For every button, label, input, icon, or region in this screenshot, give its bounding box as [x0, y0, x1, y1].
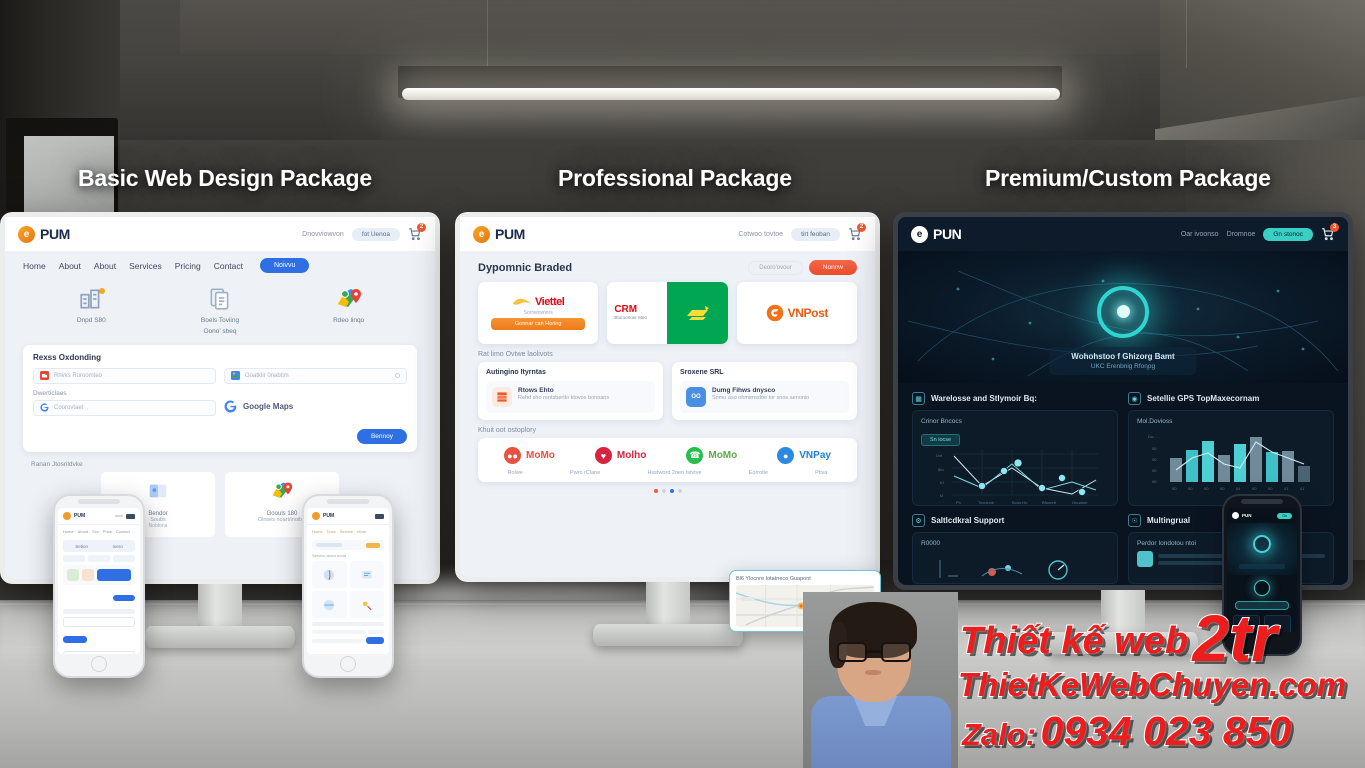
- form-title: Rexss Oxdonding: [33, 353, 407, 362]
- section-title: Dypomnic Braded: [478, 262, 572, 274]
- phone-hero-core-icon: [1253, 535, 1271, 553]
- payment-momo-2[interactable]: ♥ Molho: [595, 447, 646, 464]
- phone-button[interactable]: [63, 636, 87, 643]
- panel-title-premium: Premium/Custom Package: [985, 165, 1271, 192]
- nav-item-home[interactable]: Home: [23, 261, 46, 271]
- mini-card-1[interactable]: Autingino Ityrntas Rtows Ehto Rehd sho r…: [478, 362, 663, 420]
- hero-caption: Wohohstoo f Ghizorg Bamt UKC Erenbnig Rf…: [1049, 347, 1196, 375]
- payment-name: MoMo: [708, 450, 737, 461]
- phone-nav-item[interactable]: More: [357, 529, 366, 534]
- brand-name: CRM: [614, 304, 665, 315]
- carousel-dot-4[interactable]: [678, 489, 682, 493]
- support-graphic: [921, 550, 1109, 582]
- phone-primary-tile[interactable]: [97, 569, 131, 581]
- server-icon: [492, 387, 512, 407]
- promo-text-price-label: Thiết kế web: [960, 620, 1188, 663]
- google-maps-pin-icon: [311, 284, 387, 314]
- phone-tile[interactable]: [312, 591, 347, 618]
- phone-input[interactable]: [63, 651, 135, 654]
- section-header-row: Dypomnic Braded Deoro'ovour Nonnw: [460, 251, 875, 282]
- nav-cta-button[interactable]: Noivvu: [260, 258, 309, 273]
- payment-logo-row: ●● MoMo ♥ Molho ☎ MoMo ● VNPay: [484, 447, 851, 464]
- google-maps-label: Google Maps: [243, 402, 293, 411]
- brand-card-vnpost[interactable]: VNPost: [737, 282, 857, 344]
- order-form-card: Rexss Oxdonding Rhvks Ruroomteo Goatklir…: [23, 345, 417, 452]
- input-value: Rhvks Ruroomteo: [54, 373, 102, 379]
- feature-docs[interactable]: Boels Toviing Oono' sbeq: [182, 284, 258, 337]
- feature-title: Setellie GPS TopMaxecornam: [1147, 394, 1259, 403]
- phone-pill-button[interactable]: Gn: [1277, 513, 1292, 519]
- logo-text: PUM: [40, 226, 70, 242]
- hero-subline: UKC Erenbnig Rfonog: [1071, 363, 1174, 370]
- cart-icon[interactable]: 2: [848, 227, 862, 241]
- feature-support[interactable]: ⚙ Saltlcdkral Support R0000: [912, 514, 1118, 584]
- field-row-1: Rhvks Ruroomteo Goatklir 0nabtim: [33, 368, 407, 384]
- promo-line-2: ThietKeWebChuyen.com: [958, 666, 1346, 704]
- svg-text:00: 00: [1204, 486, 1209, 491]
- promo-text-zalo-label: Zalo:: [962, 717, 1036, 753]
- google-maps-row[interactable]: Google Maps: [224, 400, 407, 413]
- logo-mark-icon: [312, 512, 320, 520]
- mini-card-row: Autingino Ityrntas Rtows Ehto Rehd sho r…: [460, 362, 875, 420]
- brand-card-viettel[interactable]: Viettel Sornwovnors Gonnar can Horing: [478, 282, 598, 344]
- phone-chip[interactable]: [88, 555, 110, 562]
- person-mouth: [865, 670, 881, 675]
- feature-caption-2: Oono' sbeq: [182, 328, 258, 336]
- submit-button[interactable]: Bennoy: [357, 429, 407, 444]
- payment-strip: ●● MoMo ♥ Molho ☎ MoMo ● VNPay: [478, 438, 857, 482]
- radio-icon[interactable]: [395, 373, 400, 378]
- website-professional: e PUM Cotwoo tovtoe tirt feoban 2 Dypomn…: [460, 217, 875, 577]
- payment-name: VNPay: [799, 450, 831, 461]
- monitor-stand-neck: [198, 584, 242, 630]
- chart-title: Crinor Bncocs: [921, 418, 1109, 425]
- cart-badge: 2: [417, 223, 426, 232]
- svg-text:00: 00: [1188, 486, 1193, 491]
- payment-caption-row: Rolwe Pwro rClane Hsstword 2nen tstvtve …: [484, 470, 851, 476]
- glasses-lens-right: [881, 642, 911, 662]
- svg-text:04: 04: [1236, 486, 1241, 491]
- phone-tile[interactable]: [350, 561, 385, 588]
- mini-card-heading: Dumg Fihws dnysco: [712, 387, 809, 394]
- battery-icon: [375, 514, 384, 519]
- payment-caption: Rolwe: [508, 470, 523, 476]
- phone-line: [368, 630, 384, 634]
- nav-item-contact[interactable]: Contact: [214, 261, 243, 271]
- promo-text-website: ThietKeWebChuyen.com: [958, 666, 1346, 704]
- logo-text: PUM: [495, 226, 525, 242]
- chart-title: Mol.Dovioss: [1137, 418, 1325, 425]
- bar-chart: Mol.Dovioss Do:-0000 0000: [1128, 410, 1334, 506]
- brand-sub: Sornwovnors: [524, 310, 553, 316]
- carousel-dot-3[interactable]: [670, 489, 674, 493]
- logo-premium[interactable]: e PUN: [911, 226, 961, 243]
- phone-line: [312, 630, 365, 634]
- nav-item-about-2[interactable]: About: [94, 261, 116, 271]
- payment-section-label: Khuit oot ostoplory: [460, 420, 875, 438]
- promo-text-phone-number: 0934 023 850: [1041, 708, 1292, 755]
- payment-caption-extra: Ptiva: [815, 470, 827, 476]
- hero-core-icon: [1097, 286, 1149, 338]
- phone-home-button[interactable]: [91, 656, 107, 672]
- feature-row-basic: Dnpd S80 Boels Toviing Oono' sbeq: [5, 280, 435, 339]
- phone-mockup-left: PUM Home About Svc Price Contact SetionI…: [53, 494, 145, 678]
- phone-tab[interactable]: Setion: [75, 544, 88, 549]
- logo-mark-icon: e: [911, 226, 928, 243]
- monitor-stand-neck: [646, 582, 690, 628]
- input-value: Coorovtaet: [54, 405, 83, 411]
- logo-mark-icon: [63, 512, 71, 520]
- svg-text:Do:-: Do:-: [1148, 434, 1156, 439]
- phone-notch: [78, 499, 120, 504]
- payment-caption: Hsstword 2nen tstvtve: [647, 470, 701, 476]
- screen-professional: e PUM Cotwoo tovtoe tirt feoban 2 Dypomn…: [455, 212, 880, 582]
- phone-nav-item[interactable]: Price: [103, 529, 112, 534]
- brand-card-crm[interactable]: CRM Btoroortoer Meo: [607, 282, 727, 344]
- line-chart-svg: Oxt8mtOt2 PnTovulunbBoox.Ho BfuoreltOnua…: [921, 448, 1109, 506]
- line-chart: Crinor Bncocs Sn iocse: [912, 410, 1118, 506]
- svg-text:Tovulunb: Tovulunb: [978, 500, 995, 505]
- topbar-professional: e PUM Cotwoo tovtoe tirt feoban 2: [460, 217, 875, 251]
- heart-icon: ♥: [595, 447, 612, 464]
- cloud-icon: OO: [686, 387, 706, 407]
- nav-item-about-1[interactable]: About: [59, 261, 81, 271]
- input-field-1[interactable]: Rhvks Ruroomteo: [33, 368, 216, 384]
- feature-seo[interactable]: Dnpd S80: [53, 284, 129, 337]
- cart-icon[interactable]: 3: [1321, 227, 1335, 241]
- eyeglasses-icon: [837, 642, 911, 662]
- mini-card-heading: Rtows Ehto: [518, 387, 609, 394]
- feature-satellite[interactable]: ◉ Setellie GPS TopMaxecornam Mol.Dovioss…: [1128, 392, 1334, 506]
- topbar-pill-button[interactable]: fot Uenoa: [352, 228, 400, 241]
- panel-title-basic: Basic Web Design Package: [78, 165, 372, 192]
- topbar-link-2[interactable]: Dromnoe: [1227, 231, 1256, 238]
- logo-mark-icon: e: [18, 226, 35, 243]
- phone-icon: ☎: [686, 447, 703, 464]
- svg-text:Boox.Ho: Boox.Ho: [1012, 500, 1028, 505]
- payment-momo-1[interactable]: ●● MoMo: [504, 447, 555, 464]
- phone-line: [312, 622, 384, 626]
- logo-mark-icon: e: [473, 226, 490, 243]
- payment-name: Molho: [617, 450, 646, 461]
- svg-text:00: 00: [1268, 486, 1273, 491]
- feature-caption: Dnpd S80: [53, 317, 129, 325]
- menu-icon[interactable]: [115, 515, 123, 517]
- logo-professional[interactable]: e PUM: [473, 226, 525, 243]
- topbar-premium: e PUN Oar ivoonso Dromnoe Gn stonoc 3: [898, 217, 1348, 251]
- phone-chip[interactable]: [113, 555, 135, 562]
- promo-text-price: 2tr: [1193, 612, 1277, 665]
- phone-input[interactable]: [63, 617, 135, 627]
- glasses-bridge: [867, 650, 881, 653]
- payment-caption: Pwro rClane: [570, 470, 600, 476]
- momo-icon: ●●: [504, 447, 521, 464]
- mini-card-2[interactable]: Sroxene SRL OO Dumg Fihws dnysco Somo as…: [672, 362, 857, 420]
- svg-text:Bfuorelt: Bfuorelt: [1042, 500, 1057, 505]
- phone-line: [312, 639, 363, 643]
- phone-caption: Servico anivo nona: [312, 553, 384, 558]
- svg-text:01: 01: [1300, 486, 1305, 491]
- feature-caption: Boels Toviing: [182, 317, 258, 325]
- cart-badge: 2: [857, 223, 866, 232]
- payment-name: MoMo: [526, 450, 555, 461]
- mini-card-text: Somo aso ohmensdoe tor snos aenonio: [712, 394, 809, 402]
- badge-dot-icon: [99, 288, 105, 294]
- phone-icon-tile: [67, 569, 79, 581]
- phone-badge: [366, 543, 380, 548]
- documents-icon: [182, 284, 258, 314]
- building-seo-icon: [53, 284, 129, 314]
- logo-basic[interactable]: e PUM: [18, 226, 70, 243]
- phone-screen-right: PUM HomeDocs ServiceMore Servico anivo n…: [307, 508, 389, 654]
- svg-text:00: 00: [1172, 486, 1177, 491]
- phone-nav-item[interactable]: Svc: [92, 529, 99, 534]
- phone-nav-item[interactable]: Service: [340, 529, 353, 534]
- phone-mockup-right: PUM HomeDocs ServiceMore Servico anivo n…: [302, 494, 394, 678]
- hero-headline: Wohohstoo f Ghizorg Bamt: [1071, 352, 1174, 361]
- phone-screen-left: PUM Home About Svc Price Contact SetionI…: [58, 508, 140, 654]
- topbar-pill-button[interactable]: tirt feoban: [791, 228, 840, 241]
- payment-caption: Eorrolte: [749, 470, 768, 476]
- svg-text:Onuatoh: Onuatoh: [1072, 500, 1087, 505]
- monitor-professional: e PUM Cotwoo tovtoe tirt feoban 2 Dypomn…: [455, 212, 880, 582]
- light-wire-left: [487, 0, 488, 68]
- topbar-link[interactable]: Cotwoo tovtoe: [738, 231, 783, 238]
- phone-nav-item[interactable]: Home: [63, 529, 74, 534]
- phone-button[interactable]: [366, 637, 384, 644]
- feature-maps[interactable]: Rdeo linqo: [311, 284, 387, 337]
- lang-swatch: [1137, 551, 1153, 567]
- navbar-basic: Home About About Services Pricing Contac…: [5, 251, 435, 280]
- topbar-basic: e PUM Dnovviowvon fot Uenoa 2: [5, 217, 435, 251]
- phone-chip[interactable]: [316, 543, 342, 547]
- logo-mark-icon: [1232, 512, 1239, 519]
- brand-cta-button[interactable]: Gonnar can Horing: [491, 318, 585, 330]
- panel-title-professional: Professional Package: [558, 165, 792, 192]
- globe-icon: ☉: [1128, 514, 1141, 527]
- satellite-icon: ◉: [1128, 392, 1141, 405]
- nav-item-pricing[interactable]: Pricing: [175, 261, 201, 271]
- carousel-dots: [460, 482, 875, 493]
- phone-home-button[interactable]: [340, 656, 356, 672]
- topbar-pill-button[interactable]: Gn stonoc: [1263, 228, 1313, 241]
- mini-card-title: Autingino Ityrntas: [486, 369, 655, 376]
- phone-logo-text: PUM: [74, 513, 85, 519]
- support-panel: R0000: [912, 532, 1118, 584]
- input-field-3[interactable]: Coorovtaet: [33, 400, 216, 416]
- svg-text:Pn: Pn: [956, 500, 961, 505]
- phone-notch: [1241, 499, 1283, 504]
- monitor-stand-foot: [145, 626, 295, 648]
- phone-chip[interactable]: [63, 555, 85, 562]
- carousel-dot-1[interactable]: [654, 489, 658, 493]
- svg-text:00: 00: [1152, 479, 1157, 484]
- warehouse-icon: ▦: [912, 392, 925, 405]
- brand-card-grid: Viettel Sornwovnors Gonnar can Horing CR…: [460, 282, 875, 344]
- feature-title: Multingrual: [1147, 516, 1190, 525]
- phone-icon-tile: [82, 569, 94, 581]
- phone-badge-icon: [1254, 580, 1270, 596]
- svg-text:00: 00: [1152, 468, 1157, 473]
- feature-caption: Rdeo linqo: [311, 317, 387, 325]
- feature-title: Saltlcdkral Support: [931, 516, 1004, 525]
- phone-line: [63, 609, 135, 614]
- mini-card-title: Sroxene SRL: [680, 369, 849, 376]
- svg-text:01: 01: [1284, 486, 1289, 491]
- svg-text:00: 00: [1152, 457, 1157, 462]
- phone-button[interactable]: [113, 595, 135, 601]
- carousel-dot-2[interactable]: [662, 489, 666, 493]
- promo-line-3: Zalo: 0934 023 850: [962, 708, 1291, 755]
- primary-button[interactable]: Nonnw: [809, 260, 857, 275]
- topbar-link[interactable]: Dnovviowvon: [302, 231, 344, 238]
- hero-section: Wohohstoo f Ghizorg Bamt UKC Erenbnig Rf…: [898, 251, 1348, 383]
- phone-nav-item[interactable]: Docs: [327, 529, 336, 534]
- presenter-photo: [803, 592, 958, 768]
- phone-notch: [327, 499, 369, 504]
- brand-name: Viettel: [535, 296, 564, 308]
- phone-hero-caption: [1239, 564, 1285, 569]
- svg-text:tO: tO: [940, 480, 944, 485]
- phone-tile[interactable]: [350, 591, 385, 618]
- phone-logo-text: PUN: [1242, 513, 1252, 518]
- svg-text:8m: 8m: [938, 467, 944, 472]
- feature-title: Warelosse and Stlymoir Bq:: [931, 394, 1037, 403]
- ceiling-light-fixture: [402, 88, 1060, 100]
- logo-text: PUN: [933, 226, 961, 242]
- phone-tab[interactable]: Inero: [112, 544, 122, 549]
- cart-badge: 3: [1330, 223, 1339, 232]
- phone-logo-text: PUM: [323, 513, 334, 519]
- sub-label: Dwerticlaes: [33, 390, 216, 397]
- nav-item-services[interactable]: Services: [129, 261, 162, 271]
- mobile-section-caption: Ranan Jtosrildvke: [5, 458, 435, 468]
- brand-name: VNPost: [788, 306, 828, 320]
- phone-nav-item[interactable]: Home: [312, 529, 323, 534]
- support-label: R0000: [921, 540, 1109, 547]
- feature-warehouse[interactable]: ▦ Warelosse and Stlymoir Bq: Crinor Bnco…: [912, 392, 1118, 506]
- brand-sub: Btoroortoer Meo: [614, 315, 665, 321]
- input-field-2[interactable]: Goatklir 0nabtim: [224, 368, 407, 384]
- input-value: Goatklir 0nabtim: [245, 373, 390, 379]
- chart-legend-chip[interactable]: Sn iocse: [921, 434, 960, 446]
- battery-icon: [126, 514, 135, 519]
- map-card-title: Bl6 Ylocnre Iotatneco Guapont: [736, 576, 874, 582]
- brand-logo-panel: [667, 282, 727, 344]
- glasses-lens-left: [837, 642, 867, 662]
- phone-tile[interactable]: [312, 561, 347, 588]
- cart-icon[interactable]: 2: [408, 227, 422, 241]
- payment-vnpay[interactable]: ● VNPay: [777, 447, 831, 464]
- svg-text:00: 00: [1252, 486, 1257, 491]
- svg-text:Oxt: Oxt: [936, 453, 943, 458]
- bar-chart-svg: Do:-0000 0000: [1137, 428, 1325, 494]
- ghost-button[interactable]: Deoro'ovour: [748, 261, 803, 275]
- mid-section-label: Rat limo Ovtwe laolivots: [460, 344, 875, 362]
- support-icon: ⚙: [912, 514, 925, 527]
- svg-text:t2: t2: [940, 493, 944, 498]
- phone-nav-item[interactable]: About: [78, 529, 88, 534]
- phone-nav-item[interactable]: Contact: [116, 529, 130, 534]
- feature-grid-premium: ▦ Warelosse and Stlymoir Bq: Crinor Bnco…: [898, 383, 1348, 506]
- svg-text:00: 00: [1220, 486, 1225, 491]
- mini-card-text: Rehd sho rentsbertlo ktovos bonoans: [518, 394, 609, 402]
- promo-line-1: Thiết kế web 2tr: [960, 612, 1277, 665]
- vnpay-icon: ●: [777, 447, 794, 464]
- light-wire-right: [1186, 0, 1187, 68]
- topbar-link-1[interactable]: Oar ivoonso: [1181, 231, 1219, 238]
- svg-text:00: 00: [1152, 446, 1157, 451]
- payment-momo-3[interactable]: ☎ MoMo: [686, 447, 737, 464]
- monitor-stand-foot: [593, 624, 743, 646]
